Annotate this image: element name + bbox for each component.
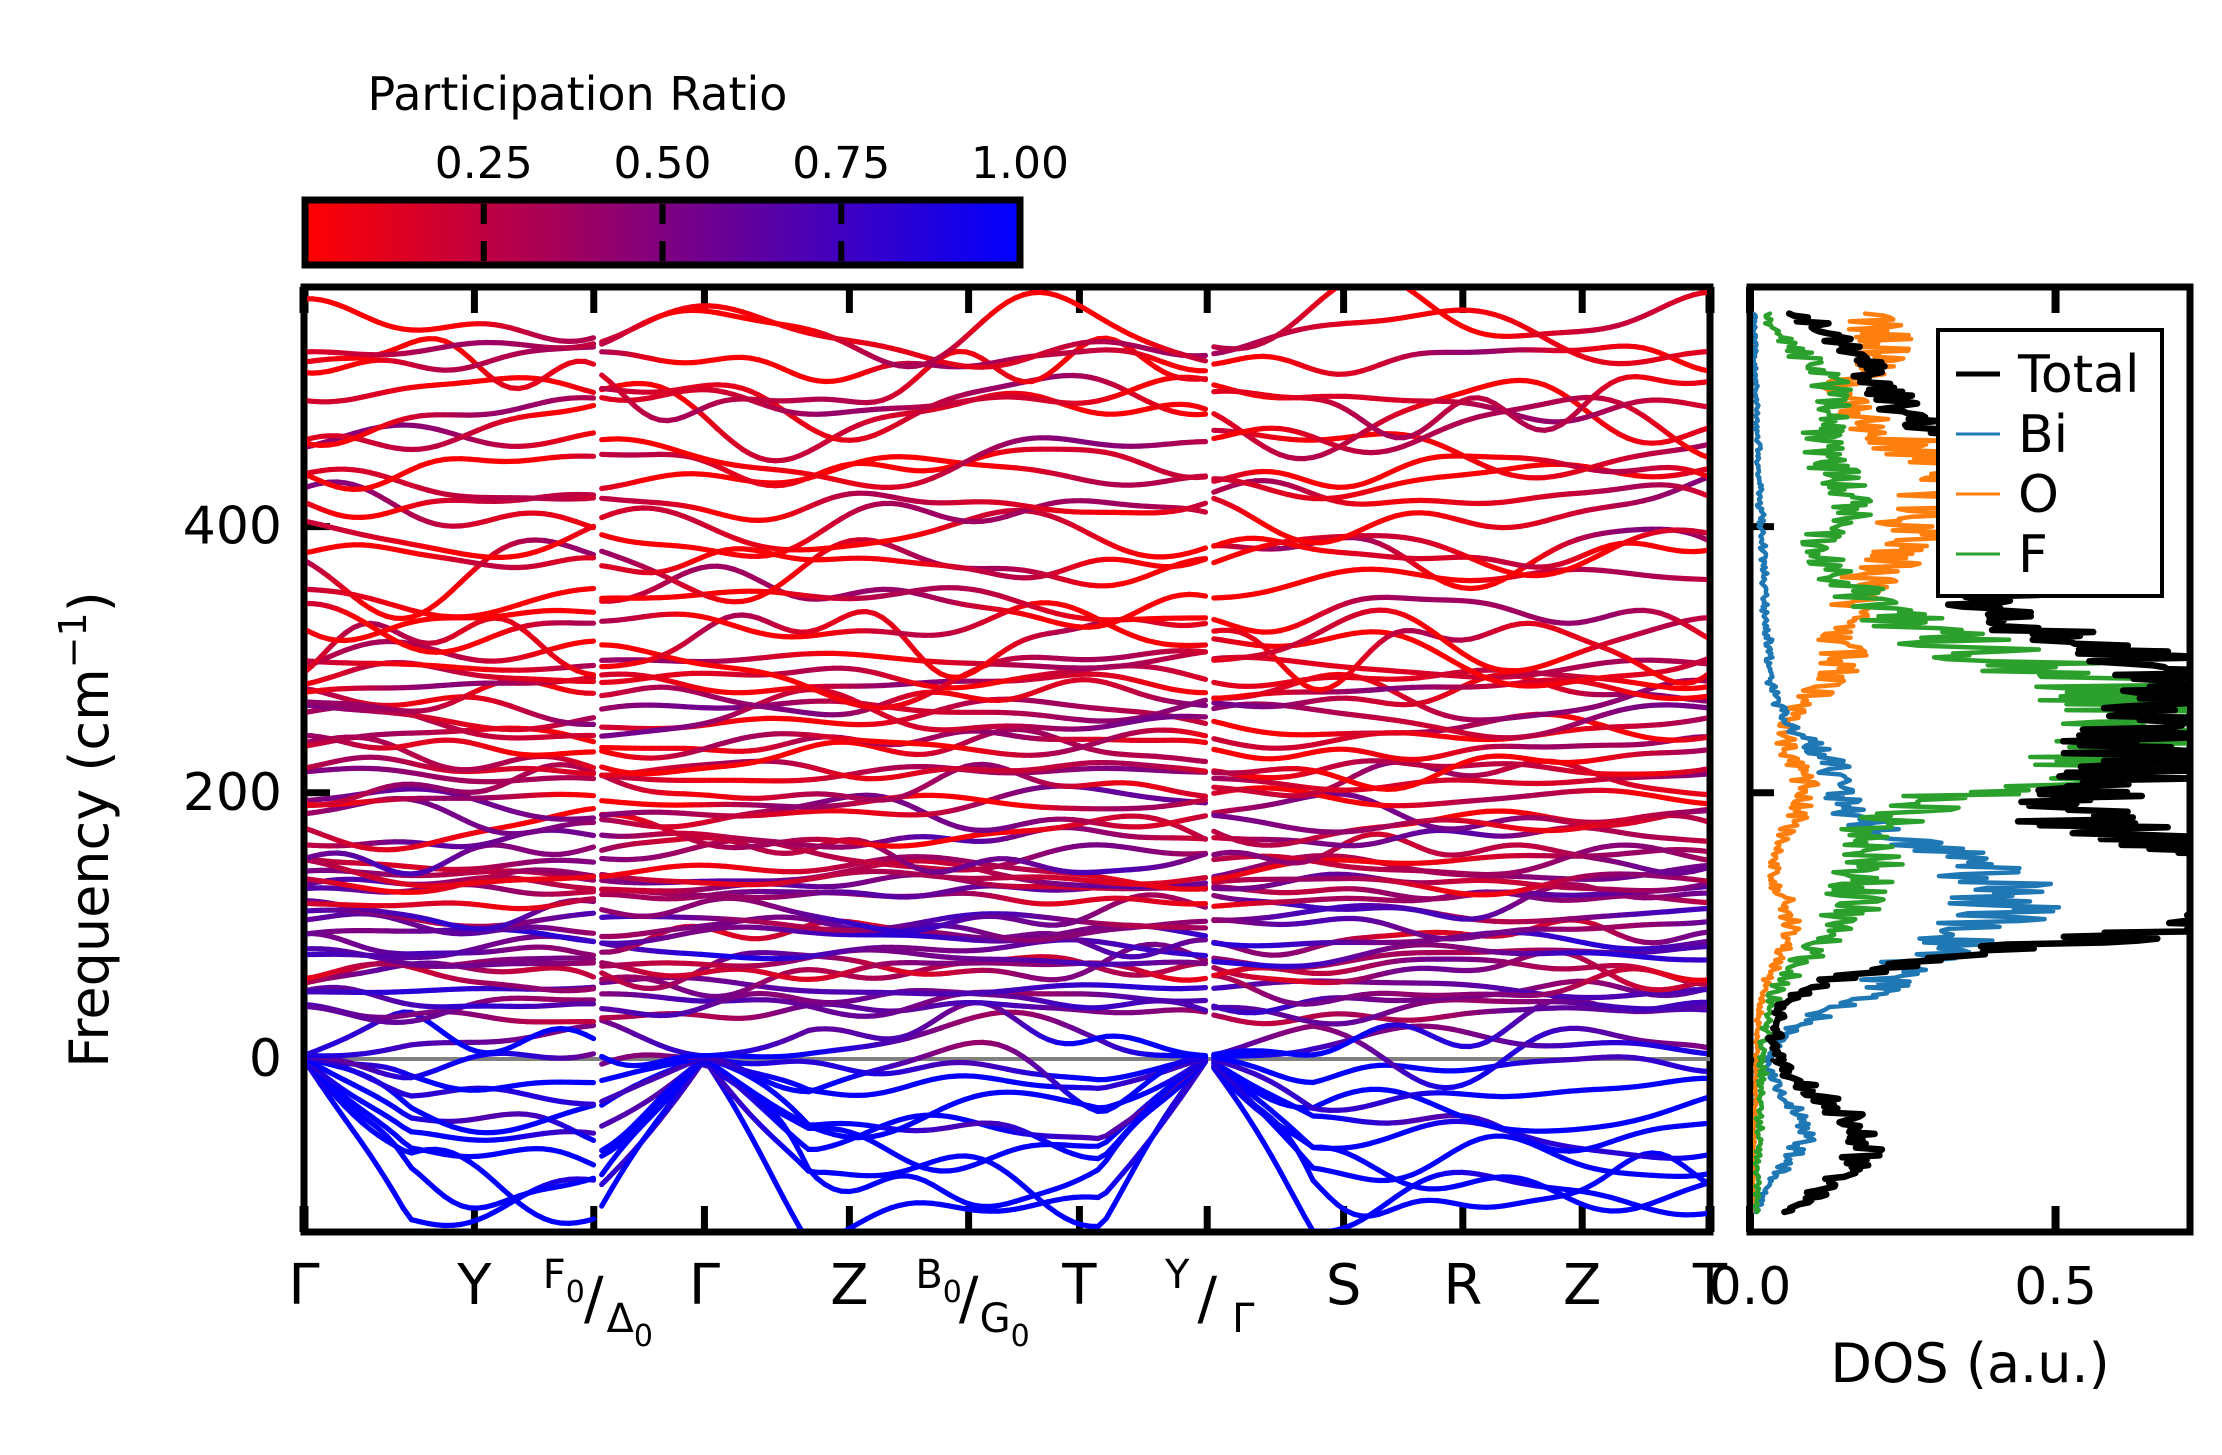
svg-text:B0: B0 [915, 1252, 962, 1310]
x-tick-label: B0/G0 [915, 1252, 1029, 1354]
svg-text:/: / [959, 1264, 979, 1332]
y-tick-label: 400 [183, 497, 282, 557]
y-tick-label: 0 [249, 1029, 282, 1089]
svg-text:S: S [1326, 1253, 1362, 1318]
svg-text:Δ0: Δ0 [607, 1296, 653, 1354]
x-tick-label: Γ [689, 1253, 720, 1318]
svg-text:Y: Y [1164, 1252, 1190, 1298]
x-tick-label: Y [456, 1253, 492, 1318]
figure-canvas: 0.250.500.751.00Participation Ratio02004… [0, 0, 2222, 1455]
svg-text:F0: F0 [543, 1252, 585, 1310]
y-tick-label: 200 [183, 763, 282, 823]
colorbar-tick-label: 0.50 [614, 138, 712, 189]
dos-x-axis-label: DOS (a.u.) [1830, 1332, 2109, 1395]
x-tick-label: Z [830, 1253, 868, 1318]
x-tick-label: T [1061, 1253, 1097, 1318]
x-tick-label: Y/Γ [1164, 1252, 1255, 1342]
svg-text:/: / [1197, 1264, 1217, 1332]
legend-label-o: O [2018, 465, 2059, 525]
y-axis-label: Frequency (cm−1) [51, 591, 121, 1068]
svg-text:T: T [1061, 1253, 1097, 1318]
x-tick-label: Γ [288, 1253, 319, 1318]
svg-text:/: / [584, 1264, 604, 1332]
dos-panel: 0.00.5DOS (a.u.)TotalBiOF [1709, 287, 2222, 1395]
svg-text:Y: Y [456, 1253, 492, 1318]
x-tick-label: S [1326, 1253, 1362, 1318]
svg-text:Z: Z [830, 1253, 868, 1318]
dos-legend: TotalBiOF [1938, 330, 2162, 596]
svg-text:Z: Z [1563, 1253, 1601, 1318]
colorbar-tick-label: 0.75 [792, 138, 890, 189]
svg-text:Γ: Γ [1232, 1296, 1255, 1342]
svg-text:Frequency (cm−1): Frequency (cm−1) [51, 591, 121, 1068]
dos-x-tick-label: 0.0 [1709, 1257, 1792, 1317]
colorbar-group: 0.250.500.751.00Participation Ratio [305, 67, 1069, 265]
svg-text:Γ: Γ [288, 1253, 319, 1318]
colorbar-tick-label: 1.00 [971, 138, 1069, 189]
x-tick-label: R [1443, 1253, 1482, 1318]
svg-text:R: R [1443, 1253, 1482, 1318]
colorbar-title: Participation Ratio [368, 67, 788, 121]
band-panel: 0200400Frequency (cm−1)ΓYF0/Δ0ΓZB0/G0TY/… [51, 275, 1728, 1354]
x-tick-label: F0/Δ0 [543, 1252, 653, 1354]
svg-text:Γ: Γ [689, 1253, 720, 1318]
legend-label-bi: Bi [2018, 405, 2068, 465]
x-tick-label: Z [1563, 1253, 1601, 1318]
svg-text:G0: G0 [980, 1296, 1030, 1354]
legend-label-f: F [2018, 525, 2048, 585]
dos-x-tick-label: 0.5 [2014, 1257, 2097, 1317]
legend-label-total: Total [2017, 345, 2139, 405]
colorbar-tick-label: 0.25 [435, 138, 533, 189]
phonon-plot-svg: 0.250.500.751.00Participation Ratio02004… [0, 0, 2222, 1455]
